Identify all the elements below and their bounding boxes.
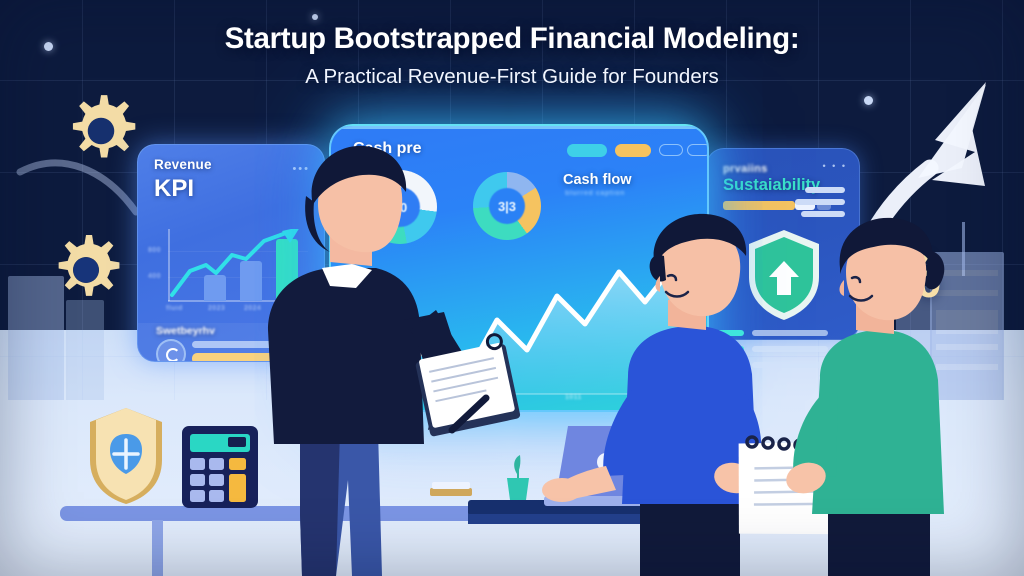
analyst-with-clipboard bbox=[268, 146, 521, 576]
hero-banner: Startup Bootstrapped Financial Modeling:… bbox=[0, 0, 1024, 576]
founder-at-laptop bbox=[542, 214, 761, 576]
page-title: Startup Bootstrapped Financial Modeling: bbox=[0, 22, 1024, 56]
title-block: Startup Bootstrapped Financial Modeling:… bbox=[0, 22, 1024, 89]
page-subtitle: A Practical Revenue-First Guide for Foun… bbox=[0, 65, 1024, 89]
